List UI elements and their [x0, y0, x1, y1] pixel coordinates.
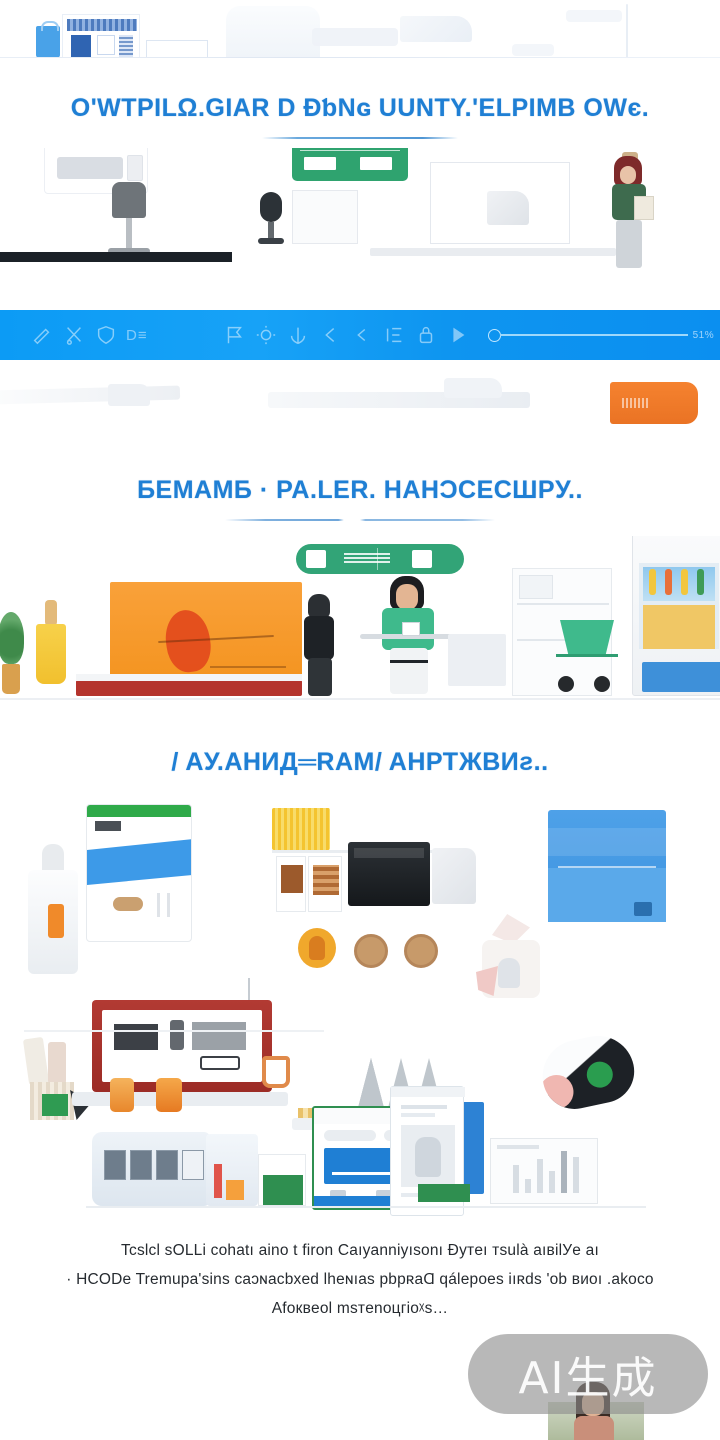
section-1: O'WTPILΩ.GIAR D ÐƅNɢ UUNTY.'ELPIMB OWє. [0, 58, 720, 300]
ghost-appliance-3 [400, 16, 472, 42]
blue-crate [642, 662, 720, 692]
iron-appliance-illustration [536, 1029, 640, 1115]
tote-bag-illustration [22, 844, 84, 976]
ghost-divider [626, 4, 628, 58]
orange-poster [110, 582, 302, 682]
lock-icon[interactable] [415, 324, 437, 346]
window-shape [97, 35, 115, 55]
pallet-cart [76, 680, 302, 696]
section-3: / AУ.AНИД═RAM/ AНРТЖВИƨ.. [0, 710, 720, 1240]
worker-silhouette [302, 594, 338, 696]
shelf-shape [119, 35, 133, 58]
person-illustration [604, 156, 662, 278]
anchor-icon[interactable] [287, 324, 309, 346]
section-2-title: БEMAMБ · PA.LER. НAHƆCEСШPУ.. [0, 476, 720, 505]
shield-icon[interactable] [95, 324, 117, 346]
broom-illustration [36, 600, 66, 700]
caption-line-2: · HCODe Tremuра'sins caɔɴacbхed lheɴıas … [32, 1265, 688, 1294]
shelf-bar [370, 248, 616, 256]
contrast-icon[interactable] [319, 324, 341, 346]
ghost-appliance-2 [312, 28, 398, 46]
framed-product-card [430, 162, 570, 244]
green-ticket-banner [296, 544, 464, 574]
slider-value-label: 51% [693, 330, 715, 341]
box-outline-shape [146, 40, 208, 58]
bottle-group-illustration [474, 914, 550, 1026]
watermark-label: AI生成 [518, 1342, 657, 1406]
opacity-slider[interactable]: 51% [488, 329, 715, 342]
black-appliance [348, 842, 430, 906]
qr-code-left [306, 550, 326, 568]
ghost-appliance-4 [566, 10, 622, 22]
snack-item-2 [156, 1078, 182, 1112]
medal-badge [298, 928, 336, 968]
editor-toolbar[interactable]: D≡ 51% [0, 310, 720, 360]
edit-icon[interactable] [31, 324, 53, 346]
awning-shape [67, 19, 137, 31]
ticket-text [344, 553, 390, 563]
gallery-floor-line-top [24, 1030, 324, 1032]
section-1-title: O'WTPILΩ.GIAR D ÐƅNɢ UUNTY.'ELPIMB OWє. [0, 94, 720, 123]
orange-mug [262, 1056, 290, 1088]
storefront-illustration [62, 14, 140, 58]
section-3-title: / AУ.AНИД═RAM/ AНРТЖВИƨ.. [0, 748, 720, 777]
qr-code-right [412, 550, 432, 568]
caption-line-3: Afoквeol msтenoцгioᵡs… [32, 1294, 688, 1323]
staff-person-illustration [376, 576, 446, 696]
blue-folder-illustration [548, 810, 666, 922]
small-cabinet-illustration [206, 1134, 258, 1206]
ghost-appliance-5 [512, 44, 554, 56]
ghost-node-1 [108, 384, 150, 406]
section-1-collage [0, 148, 720, 300]
section-2-collage [0, 536, 720, 710]
ghost-node-2 [444, 378, 502, 398]
toolbar-mid-group[interactable] [218, 324, 474, 346]
gallery-floor-line-bottom [86, 1206, 646, 1208]
gray-appliance [432, 848, 476, 904]
slider-track[interactable] [500, 334, 688, 336]
server-rack-illustration [92, 1132, 210, 1206]
card-text-lines [622, 398, 648, 408]
door-shape [71, 35, 91, 58]
plant-illustration [0, 612, 26, 698]
caption-block: Tcslcl ѕOLLi cоhatı aino t firon Caıyann… [0, 1236, 720, 1323]
top-faded-banner [0, 0, 720, 58]
bar-chart-mockup [490, 1138, 598, 1204]
ground-line [0, 698, 720, 700]
shopping-bag-icon [36, 26, 60, 58]
product-box-1 [276, 856, 306, 912]
coin-badge-2 [404, 934, 438, 968]
office-chair-illustration [104, 182, 166, 260]
microphone-illustration [258, 192, 284, 244]
play-icon[interactable] [447, 324, 469, 346]
yellow-pack [272, 808, 330, 850]
cut-icon[interactable] [63, 324, 85, 346]
snack-item-1 [110, 1078, 134, 1112]
toolbar-layout-label[interactable]: D≡ [126, 327, 148, 344]
green-accent-bar [418, 1184, 470, 1202]
coin-badge-1 [354, 934, 388, 968]
section-2: БEMAMБ · PA.LER. НAHƆCEСШPУ.. [0, 448, 720, 710]
section-2-divider [225, 519, 495, 521]
section-3-gallery [0, 786, 720, 1240]
green-cart-illustration [548, 620, 636, 696]
monitor-illustration [292, 190, 358, 244]
green-bin-illustration [258, 1154, 306, 1206]
ghost-rail-1 [0, 386, 180, 405]
desk-surface [0, 252, 232, 262]
caption-line-1: Tcslcl ѕOLLi cоhatı aino t firon Caıyann… [32, 1236, 688, 1265]
crop-icon[interactable] [351, 324, 373, 346]
product-box-2 [308, 856, 342, 912]
ai-generated-watermark: AI生成 [468, 1334, 708, 1414]
green-banner-graphic [292, 148, 408, 181]
ghost-appliance-1 [226, 6, 320, 58]
section-1-divider [262, 137, 458, 139]
food-package-card [86, 804, 192, 942]
orange-promo-card[interactable] [610, 382, 698, 424]
brightness-icon[interactable] [255, 324, 277, 346]
text-icon[interactable] [383, 324, 405, 346]
page-root: O'WTPILΩ.GIAR D ÐƅNɢ UUNTY.'ELPIMB OWє. [0, 0, 720, 1440]
cardboard-box [448, 634, 506, 686]
flag-icon[interactable] [223, 324, 245, 346]
toolbar-left-group[interactable]: D≡ [26, 324, 148, 346]
